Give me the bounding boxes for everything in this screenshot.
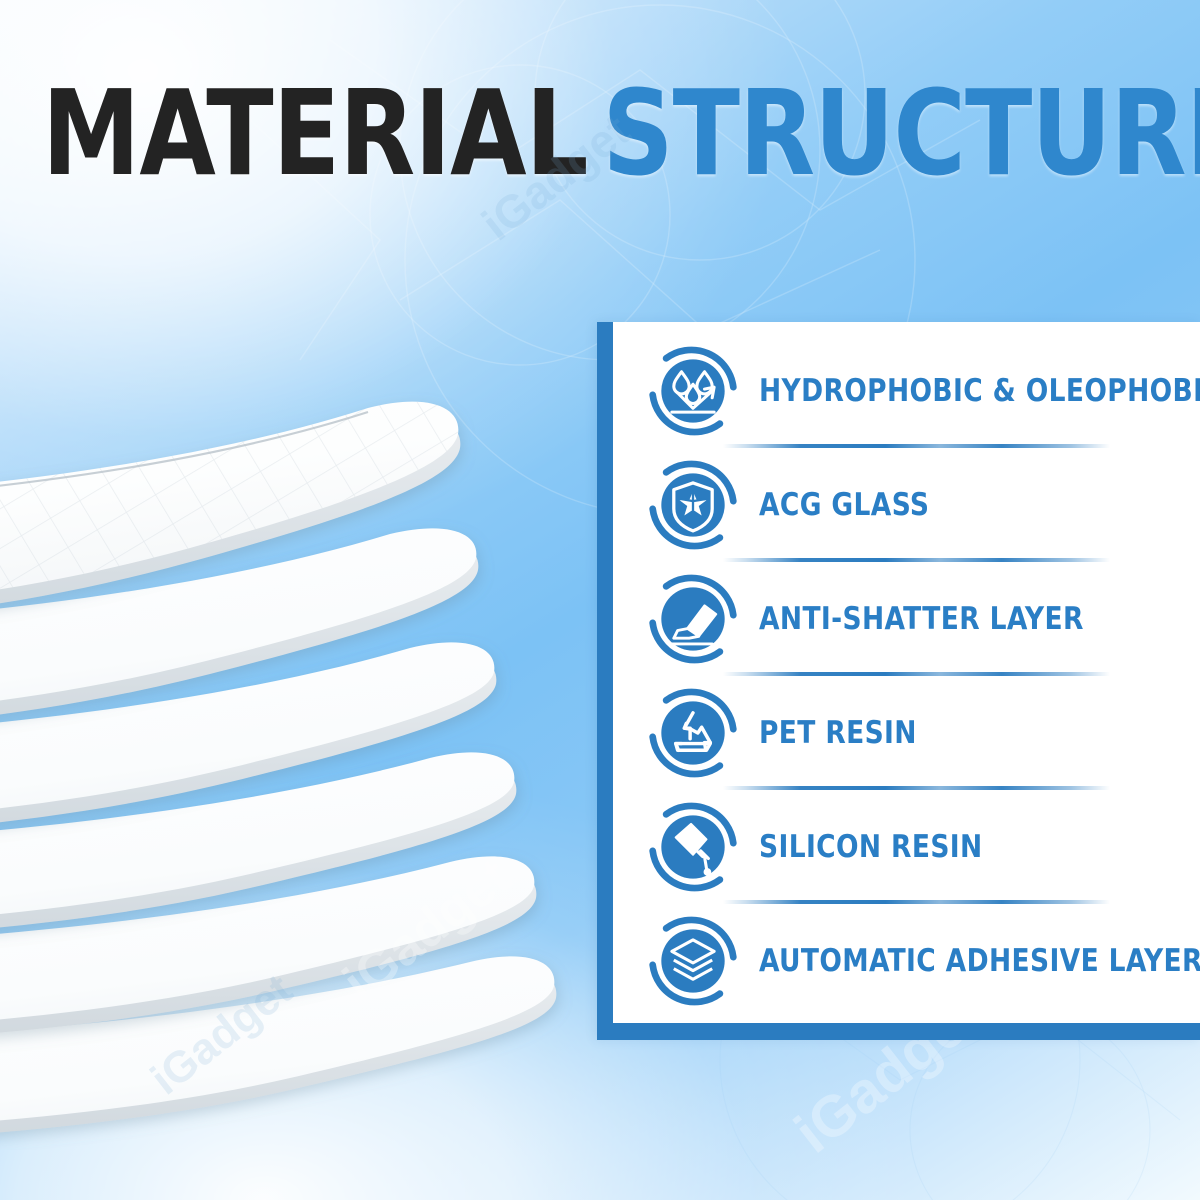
feature-row[interactable]: ACG GLASS: [613, 448, 1200, 562]
product-layer-stack-image: [0, 250, 670, 1150]
panel-left-accent-bar: [597, 322, 613, 1040]
feature-row[interactable]: ANTI-SHATTER LAYER: [613, 562, 1200, 676]
recycle-icon: [645, 685, 741, 781]
panel-bottom-accent-bar: [597, 1023, 1200, 1040]
feature-list: HYDROPHOBIC & OLEOPHOBIC COATING: [613, 322, 1200, 1023]
shield-glass-icon: [645, 457, 741, 553]
feature-label: AUTOMATIC ADHESIVE LAYER: [759, 945, 1200, 978]
title-word-material: MATERIAL: [42, 64, 588, 202]
watermark: iGadget: [142, 965, 302, 1105]
feature-row[interactable]: SILICON RESIN: [613, 790, 1200, 904]
feature-label: ACG GLASS: [759, 489, 1178, 522]
title-word-structure: STRUCTURE: [602, 64, 1200, 202]
feature-label: ANTI-SHATTER LAYER: [759, 603, 1178, 636]
feature-panel: HYDROPHOBIC & OLEOPHOBIC COATING: [597, 322, 1200, 1040]
layers-stack-icon: [645, 913, 741, 1009]
hydrophobic-oleophobic-icon: [645, 343, 741, 439]
feature-row[interactable]: AUTOMATIC ADHESIVE LAYER: [613, 904, 1200, 1018]
page-title: MATERIALSTRUCTURE: [42, 74, 1158, 192]
feature-label: PET RESIN: [759, 717, 1178, 750]
feature-row[interactable]: HYDROPHOBIC & OLEOPHOBIC COATING: [613, 334, 1200, 448]
infographic-canvas: MATERIALSTRUCTURE: [0, 0, 1200, 1200]
anti-shatter-film-icon: [645, 571, 741, 667]
feature-label: SILICON RESIN: [759, 831, 1178, 864]
watermark: iGadget: [332, 847, 521, 1013]
glue-pour-icon: [645, 799, 741, 895]
feature-label: HYDROPHOBIC & OLEOPHOBIC COATING: [759, 375, 1200, 408]
feature-row[interactable]: PET RESIN: [613, 676, 1200, 790]
